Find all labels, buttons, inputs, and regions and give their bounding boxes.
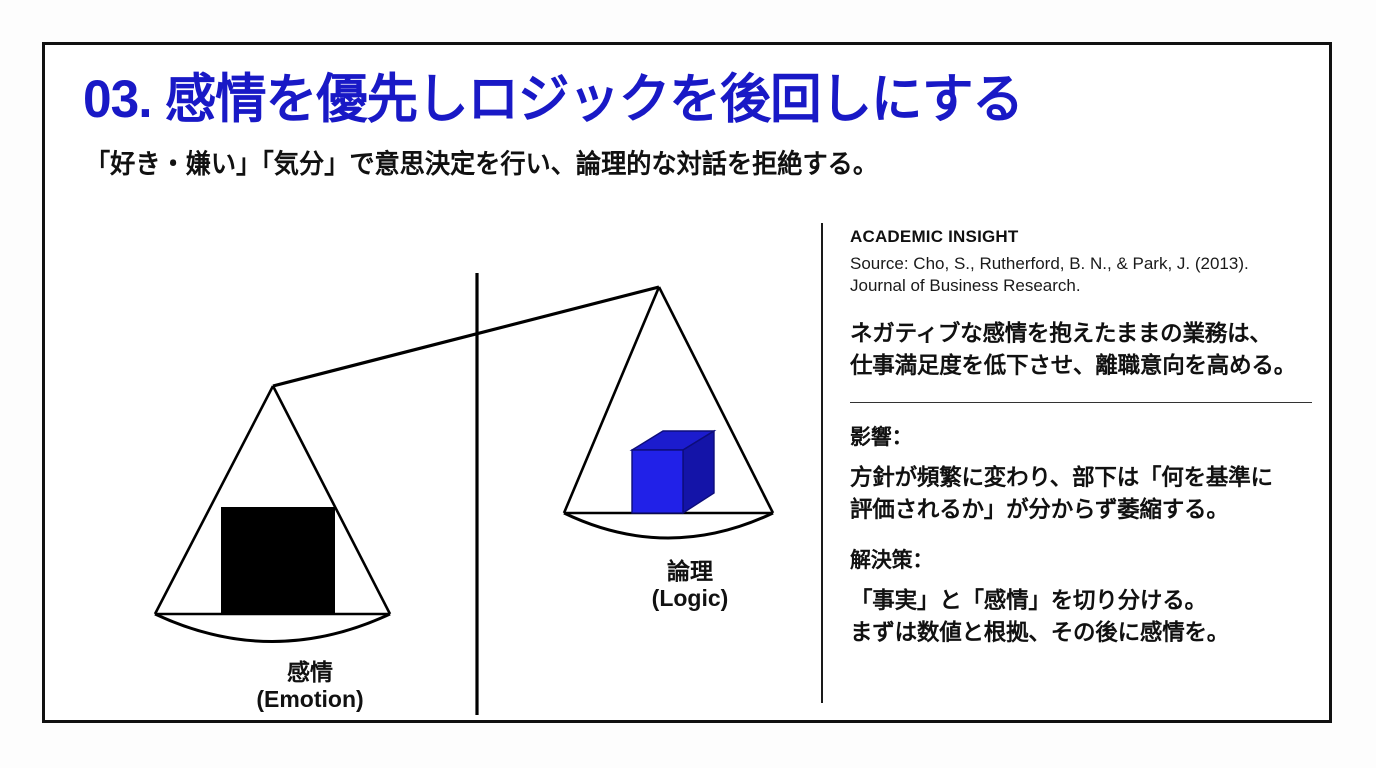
emotion-weight-block — [221, 507, 335, 614]
slide-frame: 03. 感情を優先しロジックを後回しにする 「好き・嫌い」「気分」で意思決定を行… — [42, 42, 1332, 723]
source-citation: Source: Cho, S., Rutherford, B. N., & Pa… — [850, 253, 1320, 298]
solution-block: 解決策： 「事実」と「感情」を切り分ける。 まずは数値と根拠、その後に感情を。 — [850, 544, 1320, 649]
column-divider — [821, 223, 823, 703]
impact-line: 方針が頻繁に変わり、部下は「何を基準に — [850, 462, 1320, 494]
cube-front-face — [632, 450, 683, 513]
impact-line: 評価されるか」が分からず萎縮する。 — [850, 494, 1320, 526]
left-pan-bowl — [155, 614, 390, 642]
right-pan-label-jp: 論理 — [595, 558, 785, 585]
solution-heading: 解決策： — [850, 544, 1320, 574]
academic-insight-panel: ACADEMIC INSIGHT Source: Cho, S., Ruther… — [850, 227, 1320, 649]
impact-block: 影響： 方針が頻繁に変わり、部下は「何を基準に 評価されるか」が分からず萎縮する… — [850, 421, 1320, 526]
slide-root: 03. 感情を優先しロジックを後回しにする 「好き・嫌い」「気分」で意思決定を行… — [0, 0, 1376, 768]
right-pan-label-en: (Logic) — [595, 585, 785, 612]
impact-heading: 影響： — [850, 421, 1320, 451]
finding-line: ネガティブな感情を抱えたままの業務は、 — [850, 318, 1320, 350]
solution-line: まずは数値と根拠、その後に感情を。 — [850, 617, 1320, 649]
left-pan-label: 感情 (Emotion) — [200, 659, 420, 713]
finding-line: 仕事満足度を低下させ、離職意向を高める。 — [850, 350, 1320, 382]
panel-divider — [850, 402, 1312, 404]
page-subtitle: 「好き・嫌い」「気分」で意思決定を行い、論理的な対話を拒絶する。 — [85, 149, 878, 181]
solution-line: 「事実」と「感情」を切り分ける。 — [850, 585, 1320, 617]
balance-scale-svg — [100, 225, 810, 715]
right-pan — [564, 287, 773, 538]
source-line: Source: Cho, S., Rutherford, B. N., & Pa… — [850, 253, 1320, 275]
left-pan-label-jp: 感情 — [200, 659, 420, 686]
page-title: 03. 感情を優先しロジックを後回しにする — [83, 73, 1023, 126]
finding-text: ネガティブな感情を抱えたままの業務は、 仕事満足度を低下させ、離職意向を高める。 — [850, 318, 1320, 382]
right-pan-bowl — [564, 513, 773, 538]
right-pan-label: 論理 (Logic) — [595, 558, 785, 612]
scale-beam — [273, 287, 659, 386]
left-pan-label-en: (Emotion) — [200, 686, 420, 713]
logic-weight-cube — [632, 431, 714, 513]
left-pan — [155, 386, 390, 642]
insight-heading: ACADEMIC INSIGHT — [850, 227, 1320, 247]
source-line: Journal of Business Research. — [850, 275, 1320, 297]
balance-scale-diagram: 感情 (Emotion) 論理 (Logic) — [100, 225, 810, 715]
